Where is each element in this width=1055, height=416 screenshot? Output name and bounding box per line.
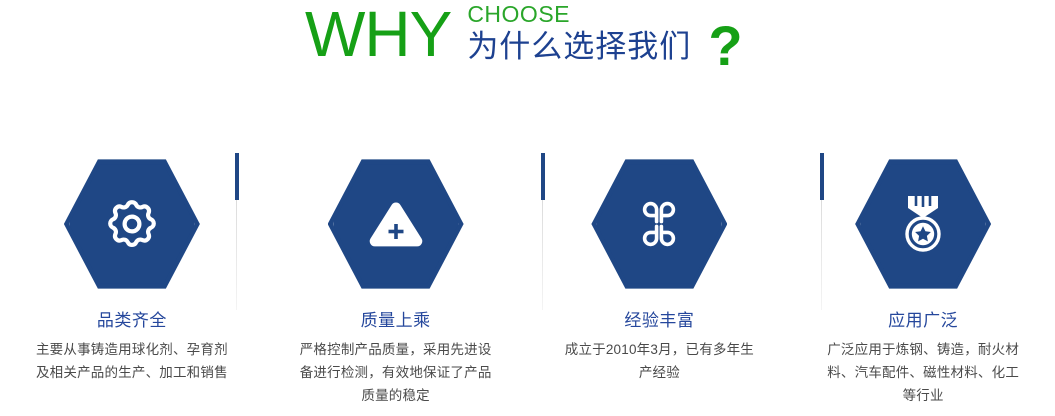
- card-body: 广泛应用于炼钢、铸造，耐火材料、汽车配件、磁性材料、化工等行业: [825, 338, 1021, 407]
- card-title: 质量上乘: [361, 311, 431, 331]
- card-title: 应用广泛: [888, 311, 958, 331]
- hexagon-badge-3: [591, 158, 727, 290]
- card-title: 品类齐全: [97, 311, 167, 331]
- card-body: 主要从事铸造用球化剂、孕育剂及相关产品的生产、加工和销售: [34, 338, 230, 384]
- header-why-word: WHY: [305, 2, 451, 66]
- header-choose-word: CHOOSE: [467, 1, 742, 27]
- hexagon-badge-1: [64, 158, 200, 290]
- card-body: 严格控制产品质量，采用先进设备进行检测，有效地保证了产品质量的稳定: [298, 338, 494, 407]
- feature-cards-row: 品类齐全 主要从事铸造用球化剂、孕育剂及相关产品的生产、加工和销售 质量上乘 严…: [0, 150, 1055, 416]
- feature-card-4[interactable]: 应用广泛 广泛应用于炼钢、铸造，耐火材料、汽车配件、磁性材料、化工等行业: [791, 150, 1055, 416]
- gear-icon: [64, 158, 200, 290]
- card-title: 经验丰富: [624, 311, 694, 331]
- header-cn-row: 为什么选择我们 ?: [467, 27, 742, 69]
- hexagon-badge-2: [328, 158, 464, 290]
- header-cn-title: 为什么选择我们: [467, 29, 691, 65]
- hexagon-badge-4: [855, 158, 991, 290]
- feature-card-2[interactable]: 质量上乘 严格控制产品质量，采用先进设备进行检测，有效地保证了产品质量的稳定: [264, 150, 528, 416]
- medal-icon: [855, 158, 991, 290]
- triangle-plus-icon: [328, 158, 464, 290]
- feature-card-1[interactable]: 品类齐全 主要从事铸造用球化剂、孕育剂及相关产品的生产、加工和销售: [0, 150, 264, 416]
- feature-card-3[interactable]: 经验丰富 成立于2010年3月，已有多年生产经验: [528, 150, 792, 416]
- card-body: 成立于2010年3月，已有多年生产经验: [561, 338, 757, 384]
- header-inner: WHY CHOOSE 为什么选择我们 ?: [305, 0, 743, 69]
- section-header: WHY CHOOSE 为什么选择我们 ?: [0, 0, 1055, 96]
- header-question-mark: ?: [708, 23, 742, 69]
- header-text-stack: CHOOSE 为什么选择我们 ?: [467, 1, 742, 69]
- clover-icon: [591, 158, 727, 290]
